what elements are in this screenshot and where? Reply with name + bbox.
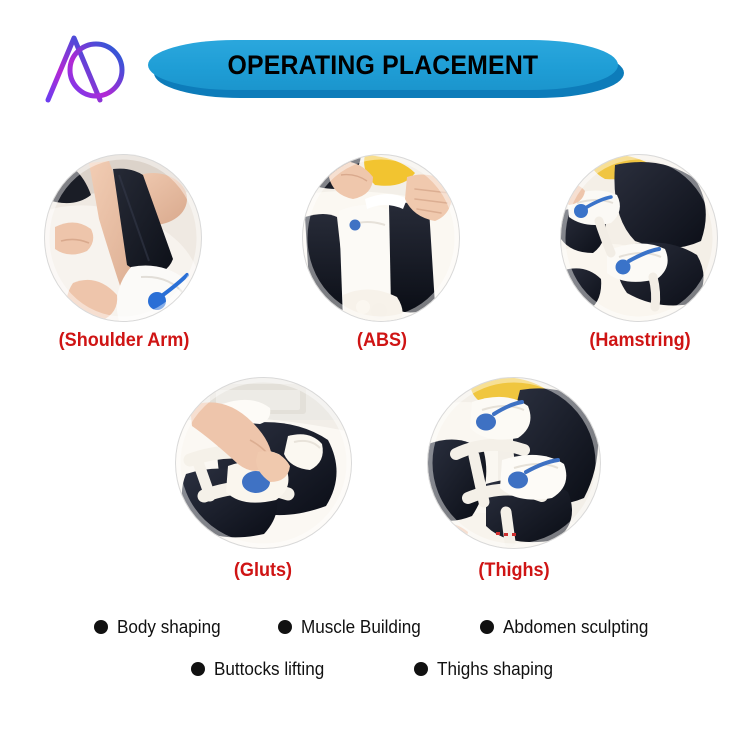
caption-abs: (ABS) xyxy=(296,330,469,352)
feature-row-2: Buttocks lifting Thighs shaping xyxy=(0,648,750,690)
placement-photo-gluts xyxy=(176,378,351,548)
feature-list: Body shaping Muscle Building Abdomen scu… xyxy=(0,606,750,690)
bullet-dot-icon xyxy=(278,620,292,634)
feature-label: Thighs shaping xyxy=(437,659,553,680)
caption-shoulder-arm: (Shoulder Arm) xyxy=(38,330,211,352)
placement-photo-abs xyxy=(303,155,459,321)
ag-logo xyxy=(38,32,134,104)
placement-photo-thighs xyxy=(428,378,600,548)
feature-item: Muscle Building xyxy=(278,617,427,638)
title-banner: OPERATING PLACEMENT xyxy=(148,40,618,98)
feature-item: Abdomen sculpting xyxy=(480,617,656,638)
bullet-dot-icon xyxy=(480,620,494,634)
page-header: OPERATING PLACEMENT xyxy=(0,0,750,130)
feature-item: Thighs shaping xyxy=(414,659,559,680)
feature-label: Body shaping xyxy=(117,617,221,638)
caption-hamstring: (Hamstring) xyxy=(554,330,727,352)
bullet-dot-icon xyxy=(191,662,205,676)
caption-gluts: (Gluts) xyxy=(177,560,350,582)
feature-label: Abdomen sculpting xyxy=(503,617,648,638)
feature-label: Muscle Building xyxy=(301,617,421,638)
caption-thighs: (Thighs) xyxy=(428,560,601,582)
placement-photo-hamstring xyxy=(561,155,717,321)
banner-body: OPERATING PLACEMENT xyxy=(148,40,618,90)
feature-item: Body shaping xyxy=(94,617,226,638)
placement-photo-shoulder-arm xyxy=(45,155,201,321)
feature-row-1: Body shaping Muscle Building Abdomen scu… xyxy=(0,606,750,648)
bullet-dot-icon xyxy=(414,662,428,676)
feature-item: Buttocks lifting xyxy=(191,659,330,680)
bullet-dot-icon xyxy=(94,620,108,634)
feature-label: Buttocks lifting xyxy=(214,659,324,680)
page-title: OPERATING PLACEMENT xyxy=(228,50,539,81)
operating-placement-page: OPERATING PLACEMENT xyxy=(0,0,750,736)
